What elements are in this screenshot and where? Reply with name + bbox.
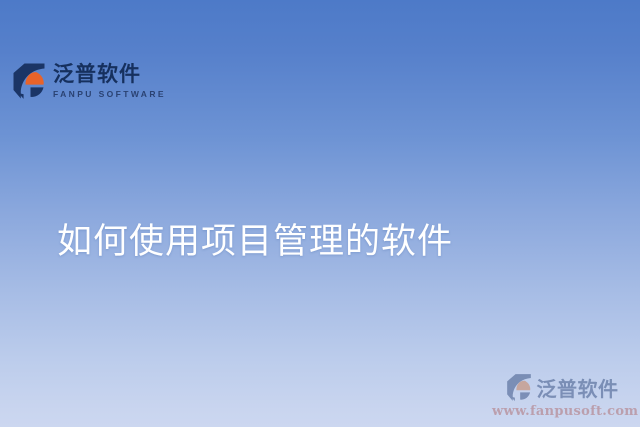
fanpu-logo-icon bbox=[12, 62, 46, 100]
header-logo[interactable]: 泛普软件 FANPU SOFTWARE bbox=[12, 62, 166, 100]
header-company-name-cn: 泛普软件 bbox=[53, 64, 166, 85]
watermark-url: www.fanpusoft.com bbox=[492, 404, 632, 419]
watermark-company-name-cn: 泛普软件 bbox=[537, 373, 619, 402]
watermark: 泛普软件 www.fanpusoft.com bbox=[492, 373, 632, 419]
page-title: 如何使用项目管理的软件 bbox=[57, 222, 453, 263]
fanpu-logo-watermark-icon bbox=[506, 373, 532, 402]
header-logo-text: 泛普软件 FANPU SOFTWARE bbox=[53, 64, 166, 99]
slide-canvas: 泛普软件 FANPU SOFTWARE 如何使用项目管理的软件 泛普软件 www… bbox=[0, 0, 640, 427]
watermark-logo-row: 泛普软件 bbox=[492, 373, 632, 402]
header-company-name-en: FANPU SOFTWARE bbox=[53, 90, 166, 99]
